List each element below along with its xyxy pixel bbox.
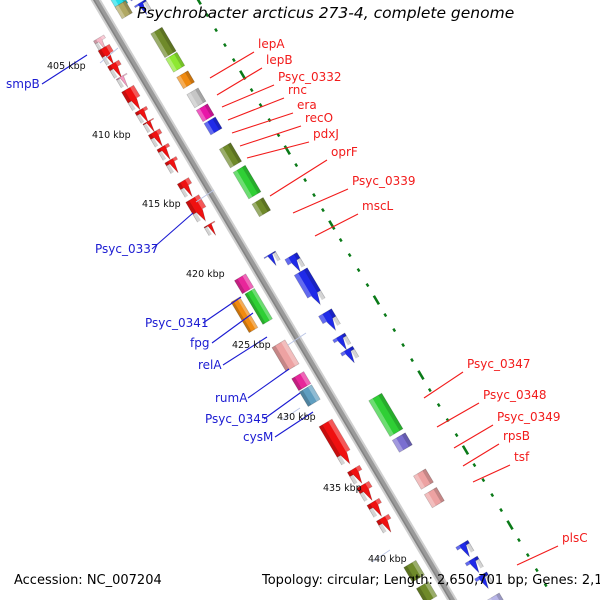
gene-olive-2[interactable] (219, 143, 241, 168)
gene-blue-8[interactable] (333, 333, 351, 351)
gene-red-15[interactable] (367, 498, 386, 517)
scale-tick-track (151, 0, 546, 587)
gene-pinkpale-2[interactable] (116, 73, 132, 88)
genome-map-viewer: Psychrobacter arcticus 273-4, complete g… (0, 0, 600, 600)
gene-red-8[interactable] (165, 157, 182, 174)
gene-red-16[interactable] (376, 514, 395, 533)
gene-orange-1[interactable] (177, 71, 195, 89)
gene-label-leader-0 (210, 52, 254, 78)
gene-label-leader-7 (270, 160, 327, 196)
gene-label-lepb[interactable]: lepB (266, 53, 293, 67)
gene-label-era[interactable]: era (297, 98, 317, 112)
gene-label-leader-11 (437, 403, 479, 427)
gene-blue-11[interactable] (465, 556, 483, 574)
gene-label-rnc[interactable]: rnc (288, 83, 307, 97)
gene-label-pdxj[interactable]: pdxJ (313, 127, 339, 141)
scale-tick-label-1: 410 kbp (92, 130, 131, 141)
gene-pink-2[interactable] (424, 487, 444, 507)
gene-label-leader-12 (454, 425, 493, 448)
gene-label-leader-13 (463, 444, 499, 466)
gene-label-leader-15 (517, 546, 558, 565)
gene-purple-1[interactable] (392, 433, 412, 453)
gene-olive-1[interactable] (151, 27, 176, 57)
gene-green-1[interactable] (233, 165, 261, 199)
gene-label-rela[interactable]: relA (198, 358, 222, 372)
gene-gray-1[interactable] (187, 88, 206, 108)
gene-label-smpb[interactable]: smpB (6, 77, 40, 91)
scale-tick-label-3: 420 kbp (186, 269, 225, 280)
gene-blue-6[interactable] (294, 268, 325, 306)
gene-blue-7[interactable] (319, 309, 341, 332)
gene-label-tsf[interactable]: tsf (514, 450, 530, 464)
genome-map-canvas[interactable]: Psychrobacter arcticus 273-4, complete g… (0, 0, 600, 600)
gene-label-mscl[interactable]: mscL (362, 199, 394, 213)
gene-lav-1[interactable] (487, 593, 507, 600)
genome-stats-text: Topology: circular; Length: 2,650,701 bp… (261, 573, 600, 588)
gene-red-6[interactable] (148, 129, 166, 148)
scale-tick-label-0: 405 kbp (47, 61, 86, 72)
page-title: Psychrobacter arcticus 273-4, complete g… (137, 4, 514, 22)
scale-tick-label-2: 415 kbp (142, 199, 181, 210)
gene-blue-4[interactable] (264, 251, 280, 266)
gene-label-leader-4 (232, 113, 293, 133)
accession-text: Accession: NC_007204 (14, 573, 162, 588)
gene-olive-3[interactable] (252, 198, 271, 217)
gene-label-fpg[interactable]: fpg (190, 336, 209, 350)
gene-label-leader-6 (247, 142, 309, 158)
gene-label-psyc-0349[interactable]: Psyc_0349 (497, 410, 561, 424)
gene-label-psyc-0345[interactable]: Psyc_0345 (205, 412, 269, 426)
gene-label-ruma[interactable]: rumA (215, 391, 248, 405)
gene-label-rpsb[interactable]: rpsB (503, 429, 530, 443)
gene-pink-1[interactable] (414, 469, 434, 489)
gene-green-2[interactable] (369, 393, 403, 436)
gene-red-11[interactable] (204, 221, 220, 236)
gene-label-leader-14 (473, 465, 510, 482)
scale-tick-label-7: 440 kbp (368, 554, 407, 565)
gene-label-leader-5 (248, 369, 289, 398)
gene-label-plsc[interactable]: plsC (562, 531, 588, 545)
gene-label-reco[interactable]: recO (305, 111, 333, 125)
gene-red-10[interactable] (186, 195, 211, 223)
gene-salmon-1[interactable] (272, 340, 299, 372)
gene-body[interactable] (369, 393, 403, 436)
scale-tick-label-6: 435 kbp (323, 483, 362, 494)
gene-blue-5[interactable] (285, 253, 305, 273)
gene-label-leader-2 (222, 85, 274, 107)
gene-label-cysm[interactable]: cysM (243, 430, 273, 444)
label-leader-lines (42, 52, 558, 565)
gene-label-leader-9 (315, 214, 358, 236)
scale-tick-label-5: 430 kbp (277, 412, 316, 423)
gene-label-leader-5 (240, 126, 301, 146)
gene-label-leader-10 (424, 372, 463, 398)
gene-label-psyc-0332[interactable]: Psyc_0332 (278, 70, 342, 84)
gene-blue-10[interactable] (456, 540, 474, 558)
gene-label-lepa[interactable]: lepA (258, 37, 285, 51)
gene-red-3[interactable] (122, 85, 145, 111)
gene-label-oprf[interactable]: oprF (331, 145, 358, 159)
gene-red-13[interactable] (347, 465, 366, 484)
gene-label-psyc-0347[interactable]: Psyc_0347 (467, 357, 531, 371)
gene-label-psyc-0337[interactable]: Psyc_0337 (95, 242, 159, 256)
gene-red-9[interactable] (177, 178, 196, 198)
gene-label-leader-2 (203, 297, 241, 323)
gene-label-psyc-0339[interactable]: Psyc_0339 (352, 174, 416, 188)
gene-red-7[interactable] (157, 143, 175, 160)
gene-label-psyc-0348[interactable]: Psyc_0348 (483, 388, 547, 402)
gene-blue-9[interactable] (341, 346, 359, 364)
scale-tick-label-4: 425 kbp (232, 340, 271, 351)
gene-label-leader-8 (293, 189, 348, 213)
scale-tick-labels: 405 kbp410 kbp415 kbp420 kbp425 kbp430 k… (47, 61, 407, 565)
gene-label-psyc-0341[interactable]: Psyc_0341 (145, 316, 209, 330)
